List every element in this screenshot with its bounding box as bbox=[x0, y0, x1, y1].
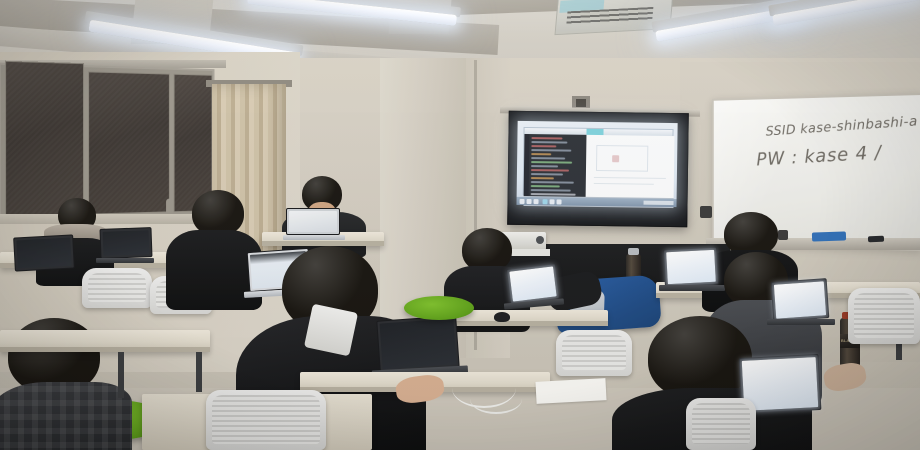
whiteboard-marker[interactable] bbox=[868, 236, 884, 243]
laptop-base bbox=[283, 235, 345, 240]
editor-code-pane bbox=[524, 134, 587, 197]
laptop-screen bbox=[774, 281, 826, 318]
laptop-lid bbox=[13, 234, 75, 271]
laptop-screen bbox=[509, 266, 556, 301]
laptop-screen bbox=[16, 238, 71, 269]
document-rule bbox=[594, 183, 654, 185]
code-line bbox=[531, 165, 558, 167]
chair[interactable] bbox=[206, 390, 326, 450]
document-rule bbox=[594, 177, 666, 179]
chair-mesh bbox=[212, 395, 320, 444]
code-line bbox=[531, 189, 571, 191]
usb-cable bbox=[470, 384, 522, 414]
classroom-photo: SSID kase-shinbashi-a PW : kase 4 / bbox=[0, 0, 920, 450]
taskbar-icon[interactable] bbox=[520, 199, 525, 204]
attendee-torso bbox=[0, 382, 132, 450]
window-pane bbox=[5, 61, 84, 219]
document-pane bbox=[586, 135, 675, 198]
code-line bbox=[531, 161, 572, 163]
whiteboard-eraser[interactable] bbox=[812, 231, 846, 241]
papers[interactable] bbox=[535, 378, 606, 404]
code-line bbox=[531, 181, 574, 183]
code-line bbox=[531, 137, 562, 139]
system-tray[interactable] bbox=[644, 201, 674, 205]
desk bbox=[448, 310, 608, 326]
chair-mesh bbox=[88, 273, 146, 302]
desk-leg bbox=[196, 352, 202, 392]
shirt-collar bbox=[304, 304, 358, 357]
laptop-lid bbox=[286, 208, 340, 235]
laptop-screen bbox=[379, 318, 456, 369]
code-line bbox=[531, 141, 567, 143]
code-line bbox=[531, 185, 560, 187]
chair-mesh bbox=[692, 403, 750, 444]
taskbar-icon[interactable] bbox=[534, 199, 539, 204]
projector-lens-icon bbox=[536, 236, 544, 244]
code-line bbox=[531, 145, 556, 147]
laptop-screen bbox=[289, 211, 337, 232]
taskbar-icon[interactable] bbox=[557, 199, 562, 204]
chair[interactable] bbox=[848, 288, 920, 344]
code-line bbox=[531, 177, 554, 179]
projection-screen bbox=[507, 111, 689, 228]
desk-leg bbox=[118, 352, 124, 398]
projected-image bbox=[516, 121, 677, 207]
document-box bbox=[596, 145, 648, 172]
code-line bbox=[531, 173, 563, 175]
taskbar-icon[interactable] bbox=[527, 199, 532, 204]
desk-edge bbox=[0, 347, 210, 352]
code-editor-window bbox=[523, 127, 674, 197]
chair[interactable] bbox=[686, 398, 756, 450]
chair[interactable] bbox=[82, 268, 152, 308]
laptop-base bbox=[96, 258, 154, 263]
laptop-screen bbox=[103, 230, 150, 256]
taskbar-icon[interactable] bbox=[550, 199, 555, 204]
code-line bbox=[531, 153, 551, 155]
document-marker bbox=[612, 155, 619, 162]
code-line bbox=[531, 193, 576, 195]
chair-seat[interactable] bbox=[404, 296, 474, 320]
desk bbox=[0, 330, 210, 352]
laptop-lid bbox=[99, 227, 152, 259]
code-line bbox=[531, 149, 571, 151]
bottle-cap bbox=[628, 248, 639, 255]
window-pane bbox=[88, 71, 170, 214]
taskbar-icon[interactable] bbox=[543, 199, 548, 204]
editor-gutter bbox=[524, 134, 530, 196]
code-line bbox=[531, 157, 565, 159]
desk-edge bbox=[448, 321, 608, 326]
laptop-lid bbox=[376, 315, 459, 372]
chair-mesh bbox=[854, 293, 914, 338]
code-line bbox=[531, 169, 569, 171]
mouse[interactable] bbox=[494, 312, 510, 322]
